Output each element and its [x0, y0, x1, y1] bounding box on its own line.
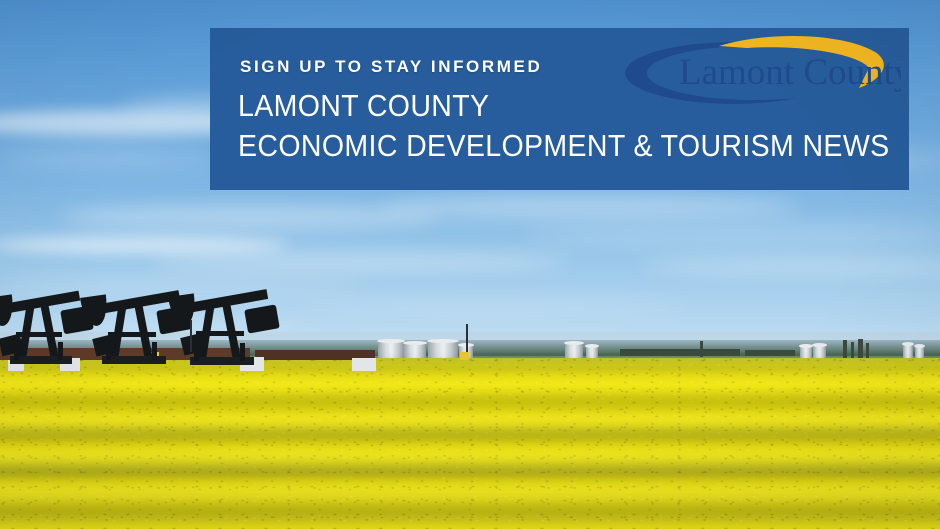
field-shadow-band — [0, 430, 940, 443]
cloud-wisp — [60, 205, 440, 229]
pumpjack-post — [194, 343, 199, 361]
cloud-wisp — [0, 150, 220, 166]
storage-tank — [915, 346, 924, 358]
cloud-wisp — [290, 300, 690, 314]
industrial-structure — [843, 340, 847, 358]
banner-eyebrow: SIGN UP TO STAY INFORMED — [240, 57, 542, 77]
field-highlight-band — [0, 414, 940, 426]
utility-pole — [466, 324, 468, 352]
cloud-wisp — [0, 236, 290, 254]
screenshot-root: SIGN UP TO STAY INFORMED LAMONT COUNTY E… — [0, 0, 940, 529]
storage-tank — [428, 341, 458, 358]
pumpjack — [0, 280, 100, 370]
storage-tank — [800, 346, 812, 358]
logo-wordmark: Lamont County — [679, 52, 901, 93]
storage-tank — [813, 345, 826, 358]
field-highlight-band — [0, 486, 940, 499]
field-shadow-band — [0, 398, 940, 409]
industrial-structure — [700, 341, 703, 357]
equipment-box — [352, 358, 376, 371]
cloud-wisp — [150, 252, 570, 272]
storage-tank — [404, 343, 426, 358]
industrial-structure — [620, 349, 740, 356]
pumpjack — [178, 275, 288, 371]
field-highlight-band — [0, 376, 940, 386]
field-shadow-band — [0, 504, 940, 518]
cloud-wisp — [380, 196, 800, 218]
pumpjack-brace — [16, 332, 62, 337]
lamont-county-logo-svg: Lamont County — [623, 32, 901, 110]
pumpjack-post — [240, 343, 245, 361]
canola-field — [0, 358, 940, 529]
pumpjack-counterweight — [244, 304, 280, 333]
storage-tank — [565, 343, 583, 358]
industrial-structure — [745, 350, 795, 356]
headline-line-2: ECONOMIC DEVELOPMENT & TOURISM NEWS — [238, 126, 890, 166]
pumpjack-post — [14, 342, 19, 360]
yellow-equipment — [460, 352, 469, 360]
pumpjack-post — [106, 342, 111, 360]
lamont-county-logo: Lamont County — [623, 32, 901, 110]
storage-tank — [586, 346, 598, 358]
storage-tank — [903, 344, 913, 358]
pumpjack-post — [58, 342, 63, 360]
industrial-structure — [866, 343, 869, 358]
newsletter-banner: SIGN UP TO STAY INFORMED LAMONT COUNTY E… — [210, 28, 909, 190]
storage-tank — [378, 341, 404, 358]
field-highlight-band — [0, 450, 940, 462]
utility-pole — [190, 320, 192, 352]
industrial-structure — [858, 339, 863, 358]
industrial-structure — [851, 342, 854, 358]
cloud-wisp — [640, 258, 940, 274]
pumpjack-post — [152, 342, 157, 360]
field-shadow-band — [0, 466, 940, 480]
cloud-wisp — [520, 225, 940, 245]
field-texture — [0, 358, 940, 529]
